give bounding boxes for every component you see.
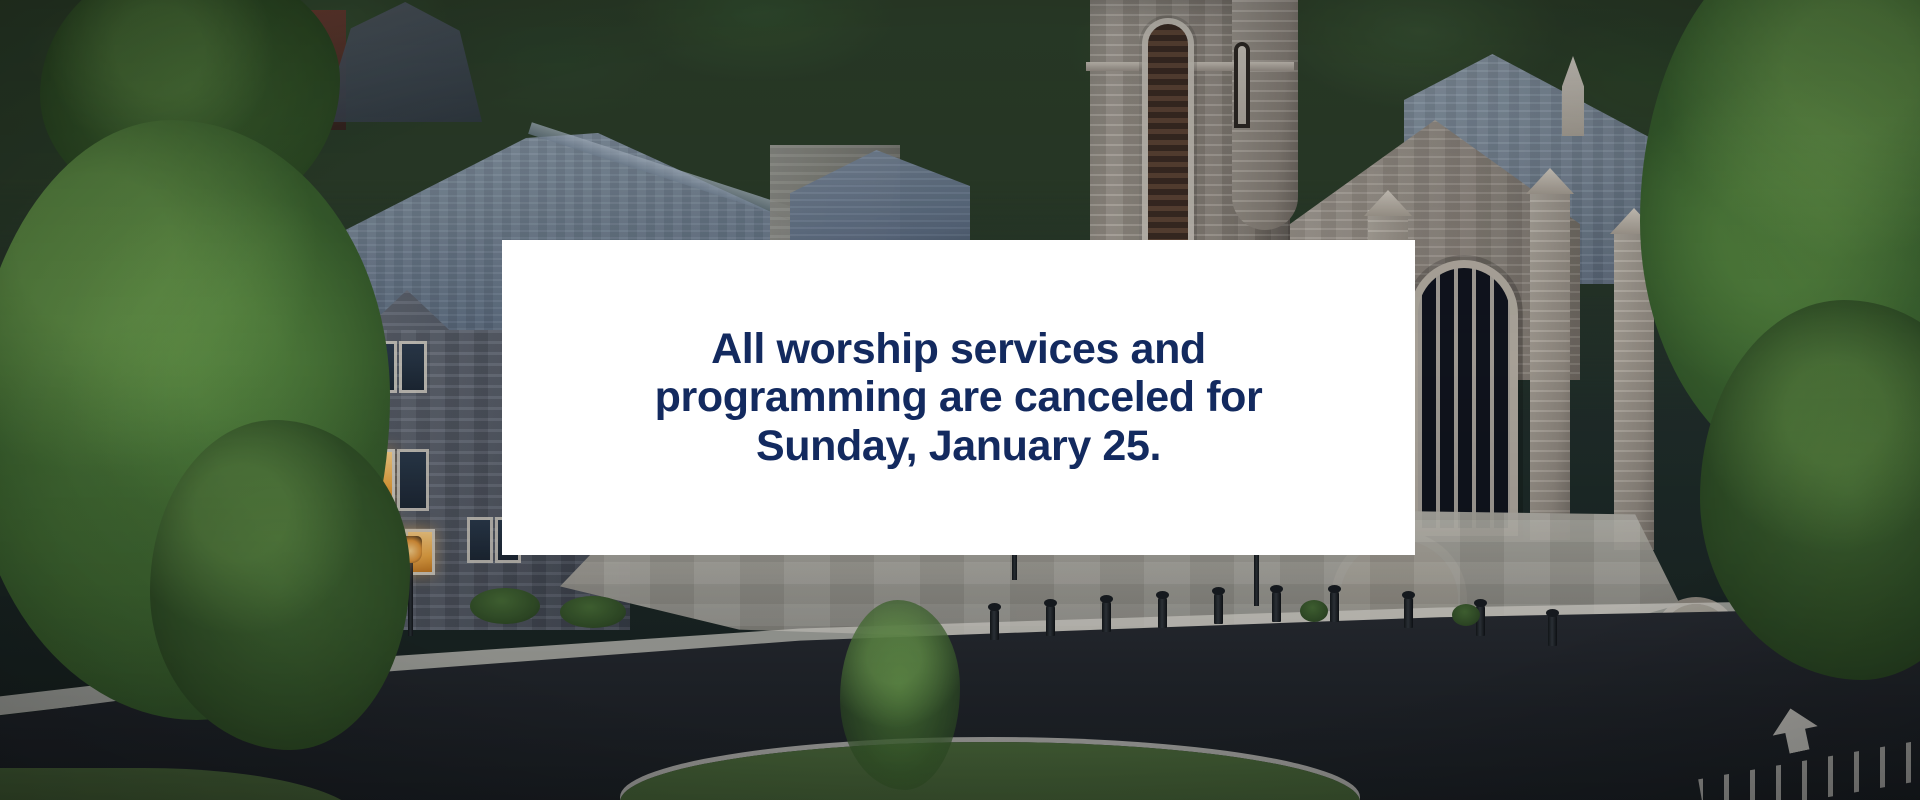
planter-urn-left: [1300, 600, 1328, 622]
shrub-left-3: [560, 596, 626, 628]
stained-glass-window: [1418, 268, 1510, 528]
bollard: [1330, 590, 1339, 622]
bollard: [1046, 604, 1055, 636]
bollard: [1548, 614, 1557, 646]
bollard: [990, 608, 999, 640]
tower-string-course-upper: [1086, 62, 1294, 71]
window-mid-3: [400, 452, 426, 508]
bollard: [1102, 600, 1111, 632]
announcement-banner: All worship services and programming are…: [0, 0, 1920, 800]
window-upper-3: [402, 344, 424, 390]
bollard: [1158, 596, 1167, 628]
buttress-center: [1530, 190, 1570, 540]
window-lower-1: [470, 520, 490, 560]
tree-left-lower: [150, 420, 410, 750]
tower-belfry-louver: [1148, 24, 1188, 244]
bollard: [1272, 590, 1281, 622]
tower-lancet-window-1: [1234, 42, 1250, 128]
tree-sapling-plaza: [840, 600, 960, 790]
bollard: [1404, 596, 1413, 628]
shrub-left-1: [470, 588, 540, 624]
bollard: [1214, 592, 1223, 624]
announcement-card: All worship services and programming are…: [502, 240, 1415, 555]
planter-urn-right: [1452, 604, 1480, 626]
announcement-heading: All worship services and programming are…: [615, 325, 1303, 469]
